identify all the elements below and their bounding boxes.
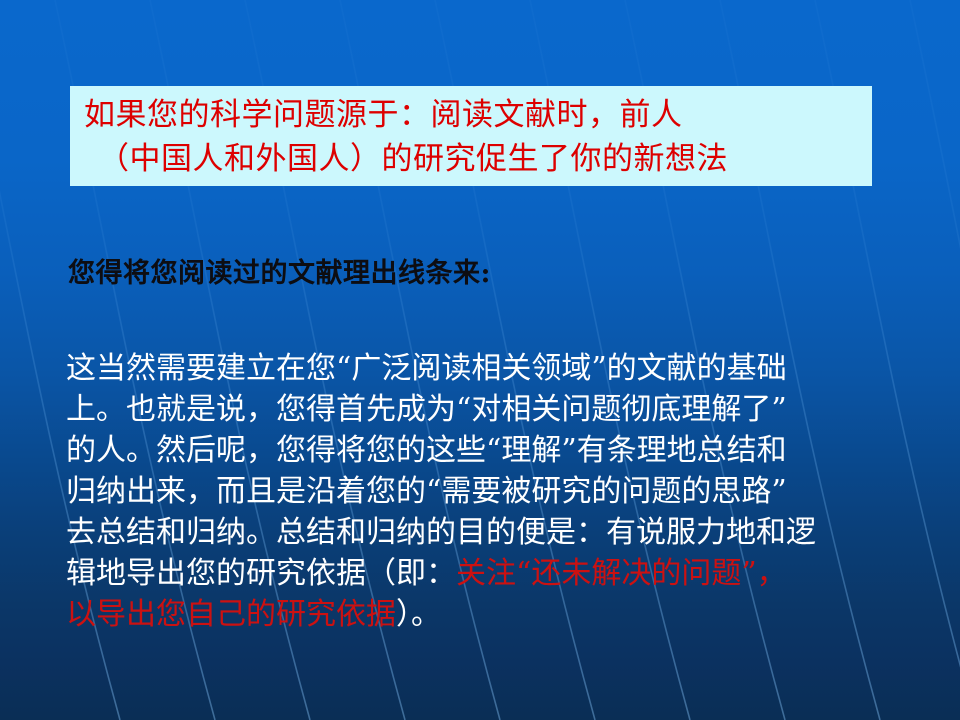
body-segment: 上。也就是说，您得首先成为“对相关问题彻底理解了” [66,392,787,427]
body-segment: 辑地导出您的研究依据（即： [66,556,456,591]
body-segment: 这当然需要建立在您“广泛阅读相关领域”的文献的基础 [66,351,787,386]
body-line: 的人。然后呢，您得将您的这些“理解”有条理地总结和 [66,430,896,471]
body-segment-highlight: 关注“还未解决的问题”， [456,556,787,591]
body-segment-highlight: 以导出您自己的研究依据 [66,597,396,632]
body-segment: 归纳出来，而且是沿着您的“需要被研究的问题的思路” [66,474,787,509]
body-line: 归纳出来，而且是沿着您的“需要被研究的问题的思路” [66,471,896,512]
subtitle-heading: 您得将您阅读过的文献理出线条来: [68,256,491,292]
body-line: 这当然需要建立在您“广泛阅读相关领域”的文献的基础 [66,348,896,389]
title-line-1: 如果您的科学问题源于：阅读文献时，前人 [84,93,872,137]
body-paragraph: 这当然需要建立在您“广泛阅读相关领域”的文献的基础 上。也就是说，您得首先成为“… [66,348,896,635]
body-segment: 的人。然后呢，您得将您的这些“理解”有条理地总结和 [66,433,787,468]
title-box: 如果您的科学问题源于：阅读文献时，前人 （中国人和外国人）的研究促生了你的新想法 [70,86,872,186]
body-line: 去总结和归纳。总结和归纳的目的便是：有说服力地和逻 [66,512,896,553]
slide-canvas: 如果您的科学问题源于：阅读文献时，前人 （中国人和外国人）的研究促生了你的新想法… [0,0,960,720]
body-segment: ）。 [396,597,441,632]
body-segment: 去总结和归纳。总结和归纳的目的便是：有说服力地和逻 [66,515,816,550]
body-line: 辑地导出您的研究依据（即：关注“还未解决的问题”， [66,553,896,594]
title-line-2: （中国人和外国人）的研究促生了你的新想法 [84,137,872,181]
body-line: 以导出您自己的研究依据）。 [66,594,896,635]
body-line: 上。也就是说，您得首先成为“对相关问题彻底理解了” [66,389,896,430]
